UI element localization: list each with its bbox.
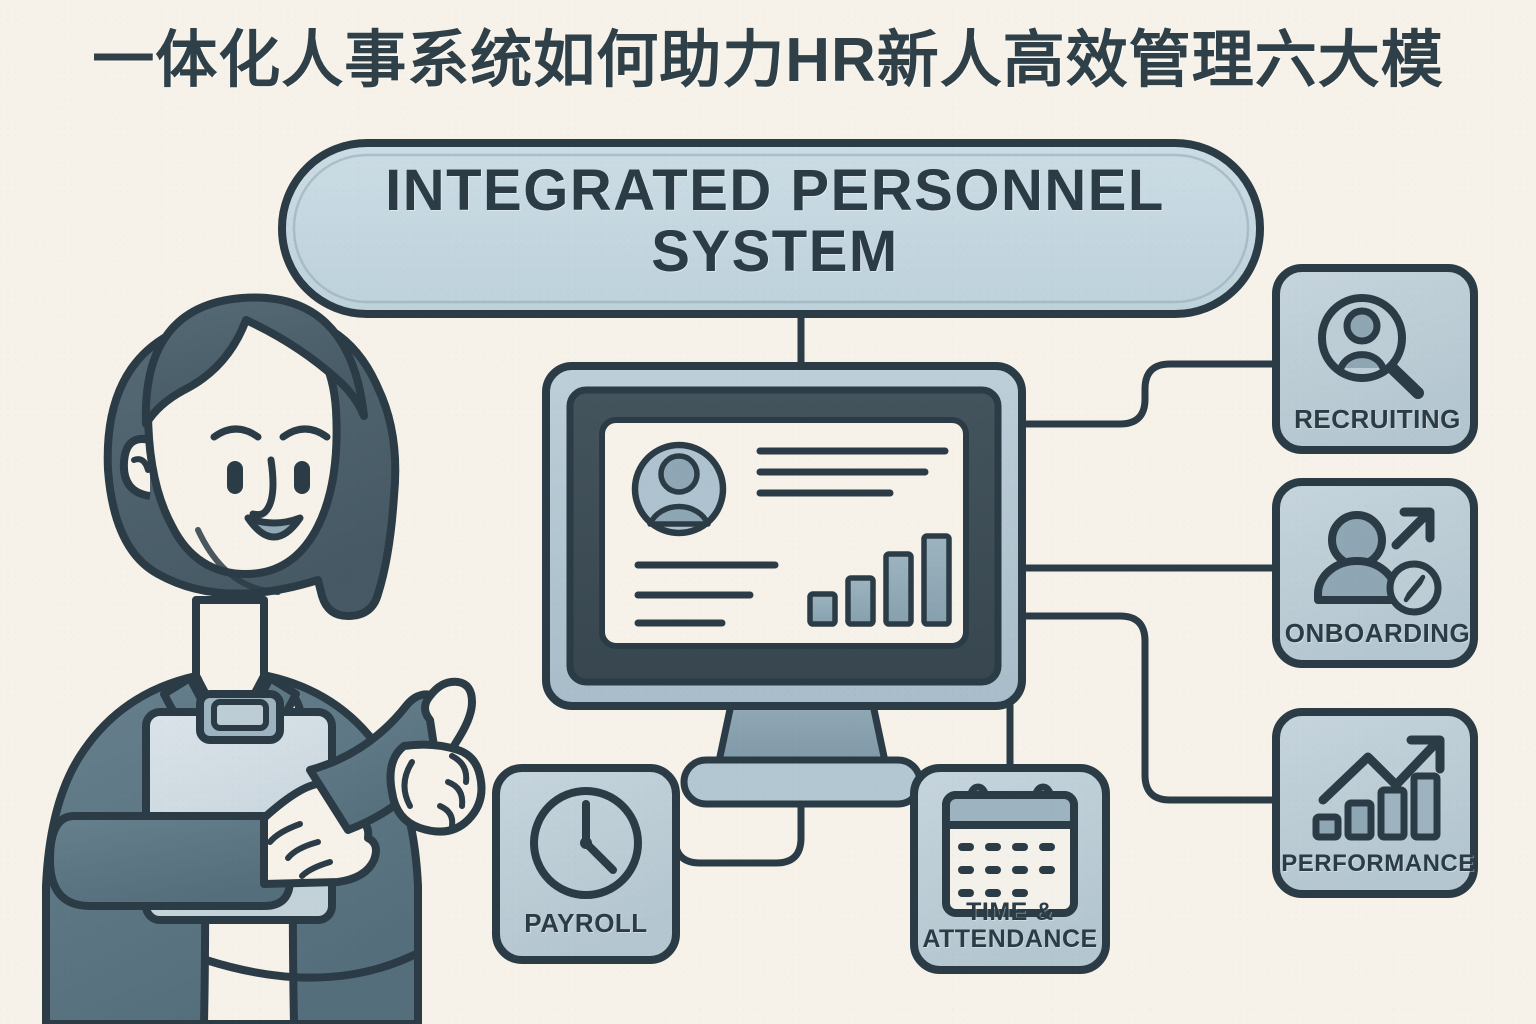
monitor-stand-base — [684, 760, 920, 804]
user-avatar-icon — [635, 445, 723, 533]
infographic-canvas: 一体化人事系统如何助力HR新人高效管理六大模 INTEGRATED PERSON… — [0, 0, 1536, 1024]
banner-title: INTEGRATED PERSONNEL SYSTEM — [300, 160, 1250, 283]
card-label-payroll: PAYROLL — [498, 910, 674, 938]
person-arrow-compass-icon — [1318, 512, 1438, 612]
clipboard-clip-inner — [214, 702, 266, 728]
arm-left — [50, 816, 290, 906]
card-label-time-attendance-line1: TIME & — [912, 899, 1108, 926]
banner-title-line2: SYSTEM — [300, 221, 1250, 282]
banner-title-line1: INTEGRATED PERSONNEL — [300, 160, 1250, 221]
calendar-icon — [946, 787, 1074, 913]
card-label-performance: PERFORMANCE — [1272, 851, 1484, 876]
card-label-onboarding: ONBOARDING — [1275, 620, 1480, 648]
card-label-time-attendance-line2: ATTENDANCE — [912, 926, 1108, 953]
card-label-recruiting: RECRUITING — [1275, 406, 1480, 434]
card-label-time-attendance: TIME & ATTENDANCE — [912, 899, 1108, 952]
